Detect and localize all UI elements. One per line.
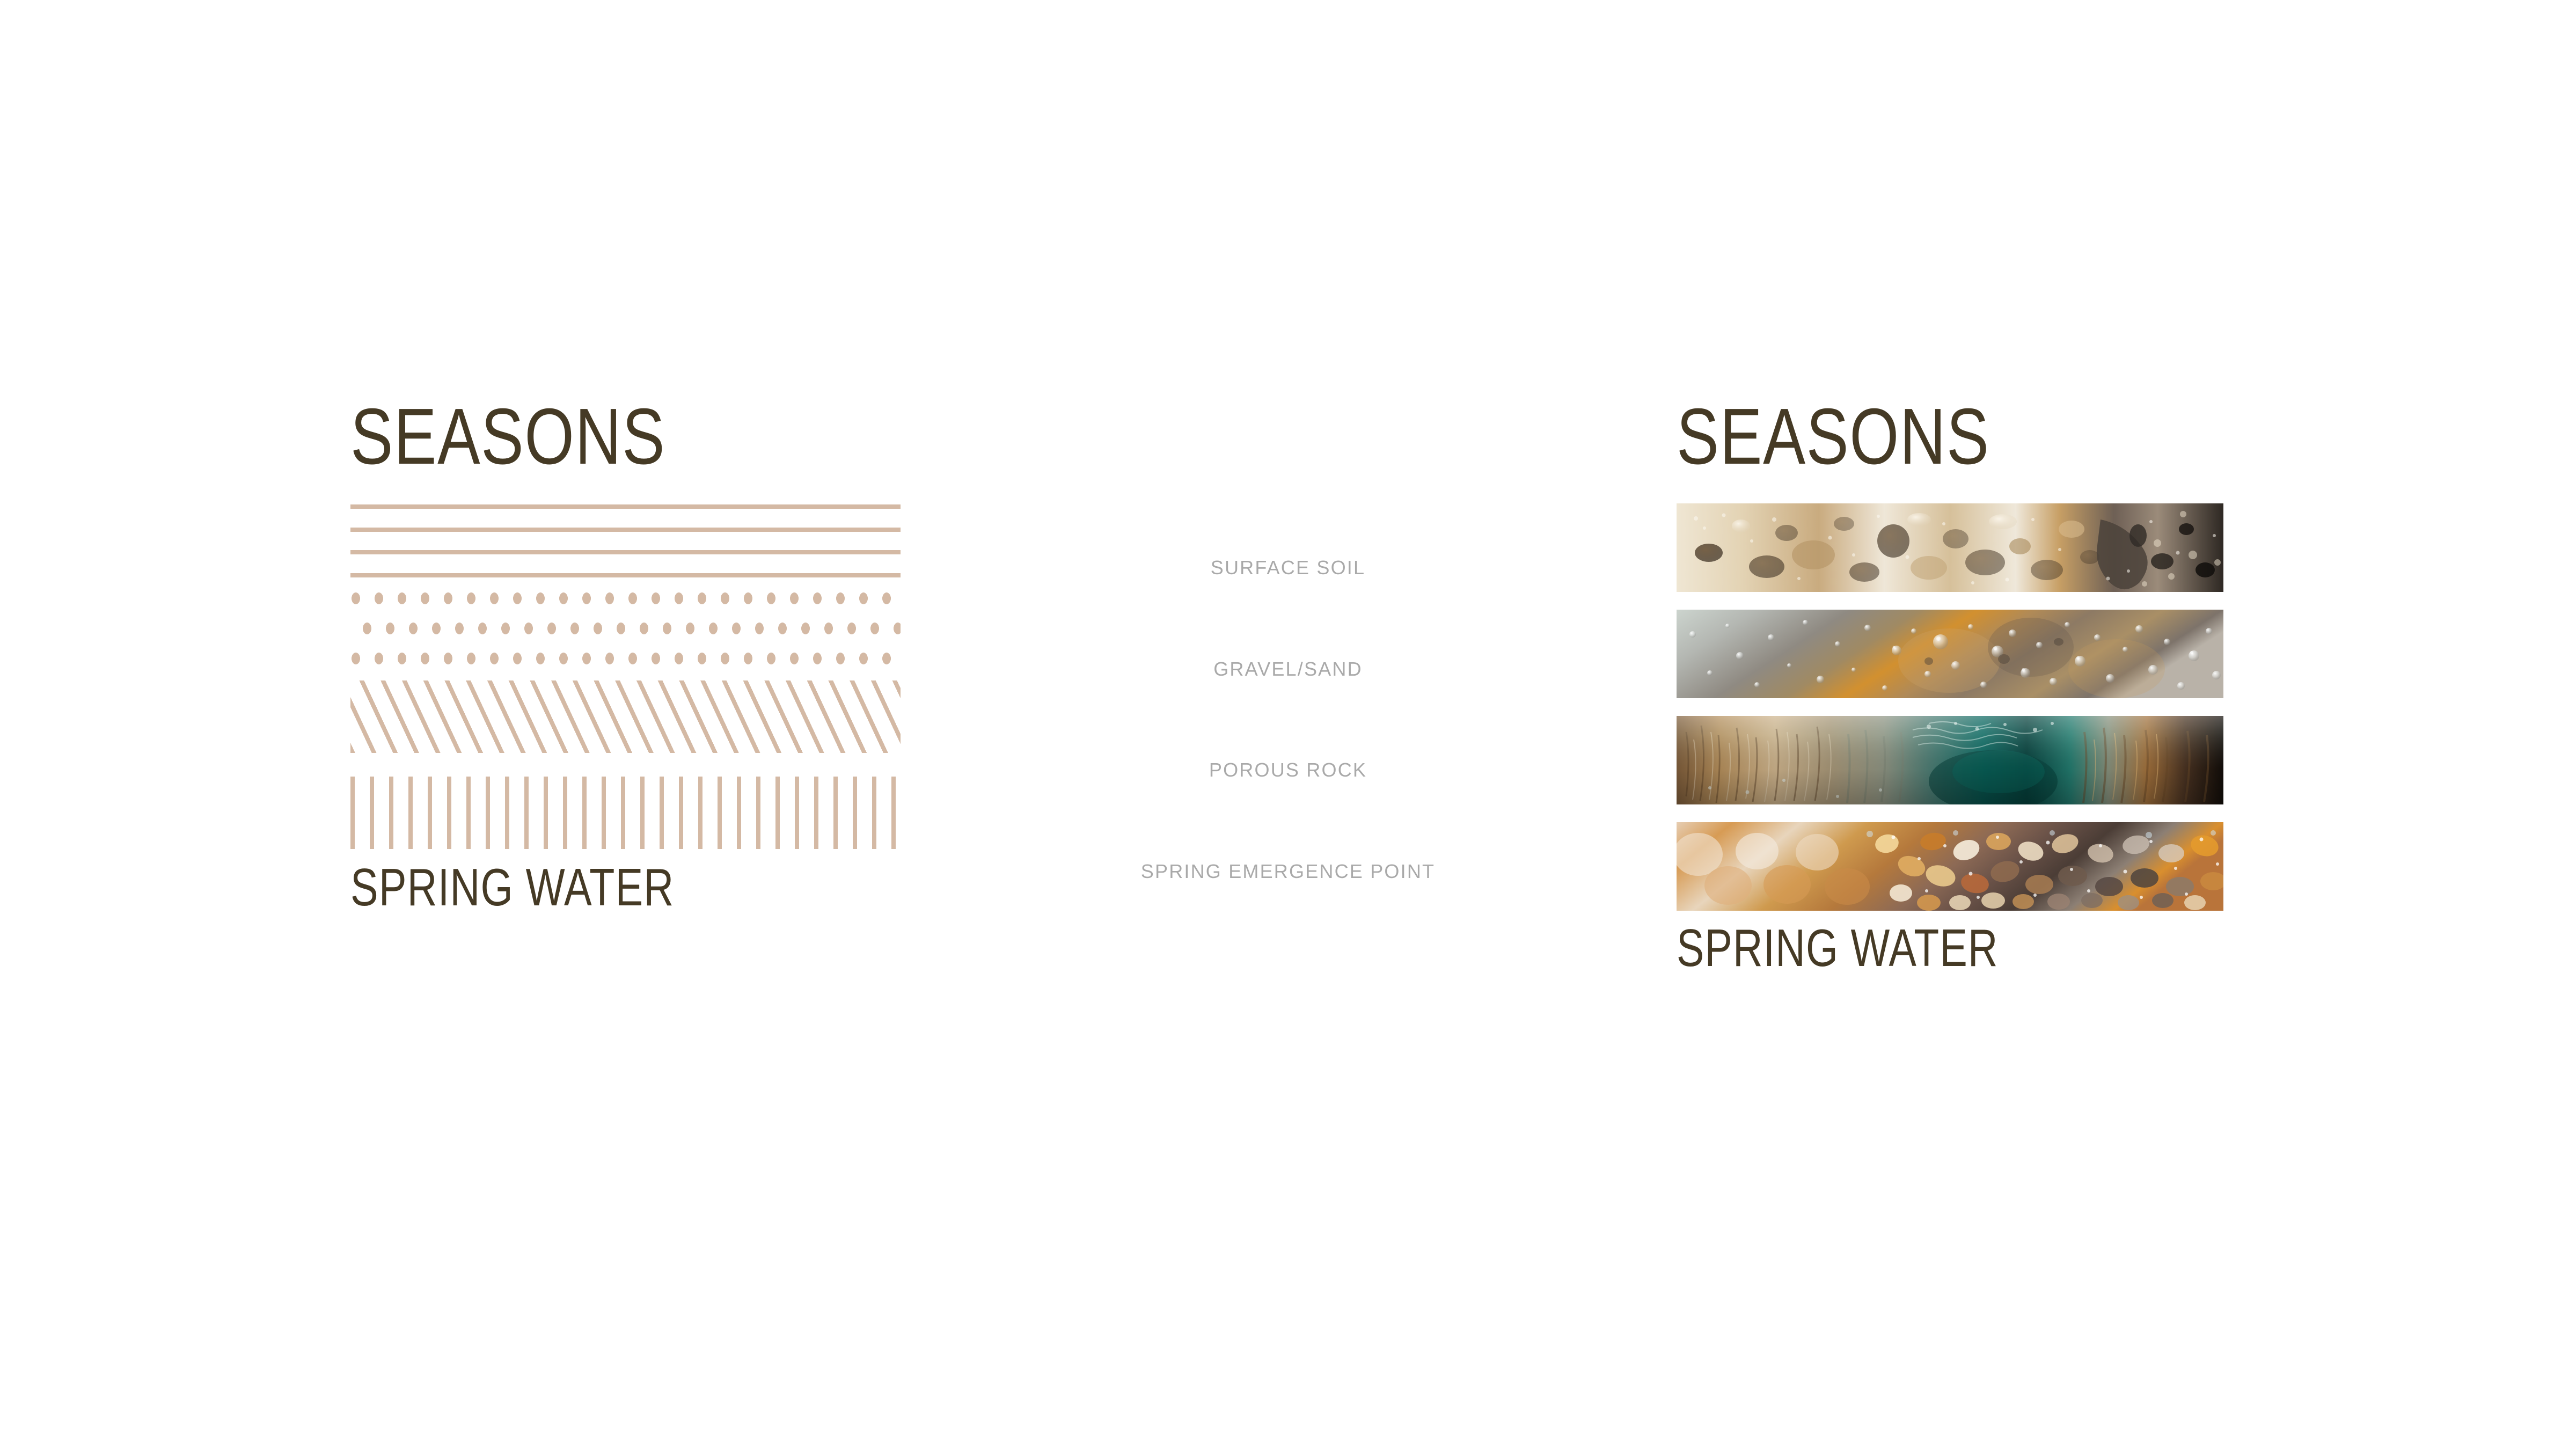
wordmark-seasons-photo: SEASONS <box>1677 397 2114 478</box>
layer-label-column: SURFACE SOIL GRAVEL/SAND POROUS ROCK SPR… <box>1020 547 1556 881</box>
porous-rock-texture-image <box>1677 716 2223 804</box>
photo-band-gravel-sand <box>1677 610 2223 698</box>
rule-line <box>350 528 901 532</box>
layer-label-porous-rock: POROUS ROCK <box>1020 760 1556 780</box>
pattern-band-porous-rock <box>350 680 901 753</box>
layer-label-surface-soil: SURFACE SOIL <box>1020 558 1556 577</box>
surface-soil-texture-image <box>1677 503 2223 592</box>
pattern-band-spring-emergence-point <box>350 777 901 849</box>
canvas: SEASONS SPRING WATER SURFACE SOIL GRAVEL… <box>0 0 2576 1449</box>
pattern-stack <box>350 502 901 849</box>
layer-label-spring-emergence-point: SPRING EMERGENCE POINT <box>1020 862 1556 881</box>
spring-emergence-point-texture-image <box>1677 822 2223 911</box>
dot-row <box>350 623 901 634</box>
photo-stack <box>1677 503 2223 911</box>
gravel-sand-texture-image <box>1677 610 2223 698</box>
rule-line <box>350 550 901 554</box>
rule-line <box>350 573 901 577</box>
layer-label-gravel-sand: GRAVEL/SAND <box>1020 660 1556 679</box>
wordmark-spring-water-photo: SPRING WATER <box>1677 921 2106 975</box>
rule-line <box>350 504 901 509</box>
logo-photo-variant: SEASONS <box>1677 397 2223 975</box>
logo-pattern-variant: SEASONS SPRING WATER <box>350 397 901 914</box>
dot-row <box>350 592 901 604</box>
photo-band-porous-rock <box>1677 716 2223 804</box>
wordmark-spring-water-pattern: SPRING WATER <box>350 861 785 914</box>
photo-band-surface-soil <box>1677 503 2223 592</box>
wordmark-seasons-pattern: SEASONS <box>350 397 793 478</box>
photo-band-spring-emergence-point <box>1677 822 2223 911</box>
pattern-band-gravel-sand <box>350 592 901 664</box>
pattern-band-surface-soil <box>350 502 901 577</box>
dot-row <box>350 653 901 664</box>
